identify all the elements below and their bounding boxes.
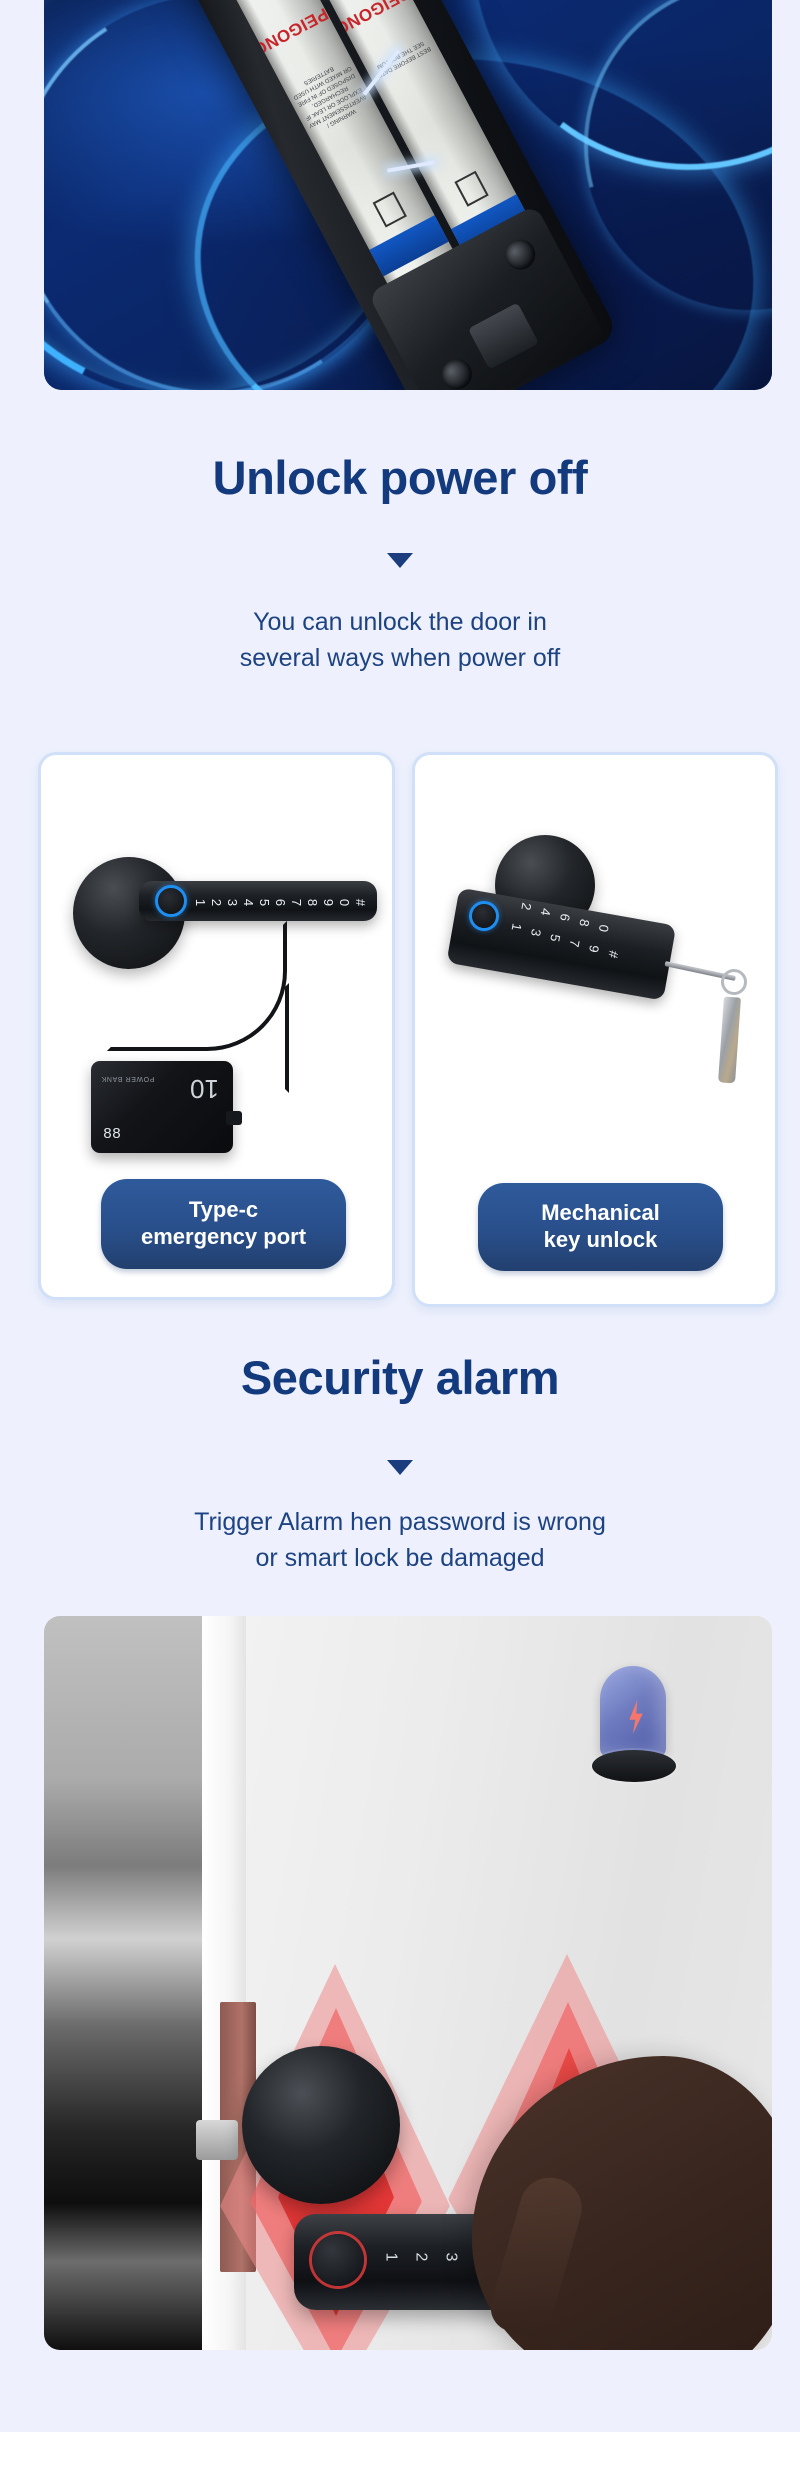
battery-no-dispose-icon [454, 171, 488, 207]
page-bottom-strip [0, 2432, 800, 2485]
hero-battery-photo: PEIGONG WARNING / AVERTISSEMENT MAY EXPL… [44, 0, 772, 390]
unlock-section-title: Unlock power off [0, 450, 800, 505]
caret-down-icon-wrap [0, 553, 800, 568]
screw-icon [500, 234, 541, 275]
battery-no-dispose-icon [373, 192, 407, 228]
power-bank-display: 88 [103, 1126, 121, 1143]
fingerprint-sensor-icon [155, 885, 187, 917]
power-bank-capacity: 10 [190, 1073, 219, 1104]
alarm-subtitle-line-2: or smart lock be damaged [0, 1541, 800, 1577]
caret-down-icon [387, 1460, 413, 1475]
alarm-section-subtitle: Trigger Alarm hen password is wrong or s… [0, 1505, 800, 1576]
alarm-subtitle-line-1: Trigger Alarm hen password is wrong [0, 1505, 800, 1541]
lock-illustration: 1 2 3 4 5 6 7 8 9 0 # POWER BANK 10 [59, 833, 389, 1163]
beacon-base [592, 1750, 676, 1782]
unlock-section-subtitle: You can unlock the door in several ways … [0, 605, 800, 676]
alarm-section-title: Security alarm [0, 1350, 800, 1405]
unlock-card-mechanical-key[interactable]: 1 2 3 4 5 6 7 8 9 0 # Mechanical [412, 752, 778, 1307]
usb-port-icon [226, 1111, 242, 1125]
lock-keypad: 1 2 3 4 5 6 7 8 9 0 # [197, 889, 375, 919]
unlock-card-typec[interactable]: 1 2 3 4 5 6 7 8 9 0 # POWER BANK 10 [38, 752, 395, 1300]
typec-pill-button[interactable]: Type-c emergency port [101, 1179, 346, 1269]
caret-down-icon-wrap [0, 1460, 800, 1475]
index-finger [485, 2171, 589, 2342]
door-latch-bolt [196, 2120, 238, 2160]
key-pill-line-2: key unlock [541, 1227, 660, 1254]
typec-pill-line-1: Type-c [141, 1197, 306, 1224]
power-bank: POWER BANK 10 88 [91, 1061, 233, 1153]
alarm-demo-photo: 1 2 3 4 5 6 7 8 9 0 # [44, 1616, 772, 2350]
key-pill-line-1: Mechanical [541, 1200, 660, 1227]
battery-brand-label: PEIGONG [338, 0, 413, 35]
key-blade [718, 997, 741, 1084]
product-detail-page: PEIGONG WARNING / AVERTISSEMENT MAY EXPL… [0, 0, 800, 2485]
lock-illustration: 1 2 3 4 5 6 7 8 9 0 # [429, 835, 769, 1135]
room-background-strip [44, 1616, 202, 2350]
screw-icon [437, 354, 478, 390]
power-bank-label: POWER BANK [101, 1075, 154, 1082]
unlock-subtitle-line-1: You can unlock the door in [0, 605, 800, 641]
endcap-tab [468, 303, 539, 370]
lock-rosette [242, 2046, 400, 2204]
key-ring-icon [719, 967, 749, 997]
fingerprint-sensor-icon [312, 2234, 364, 2286]
mechanical-key-pill-button[interactable]: Mechanical key unlock [478, 1183, 723, 1271]
typec-lock-photo: 1 2 3 4 5 6 7 8 9 0 # POWER BANK 10 [41, 755, 392, 1165]
caret-down-icon [387, 553, 413, 568]
unlock-subtitle-line-2: several ways when power off [0, 641, 800, 677]
battery-brand-label: PEIGONG [257, 3, 332, 55]
alarm-beacon-icon [592, 1666, 676, 1782]
mechanical-key-lock-photo: 1 2 3 4 5 6 7 8 9 0 # [415, 755, 775, 1165]
typec-pill-line-2: emergency port [141, 1224, 306, 1251]
